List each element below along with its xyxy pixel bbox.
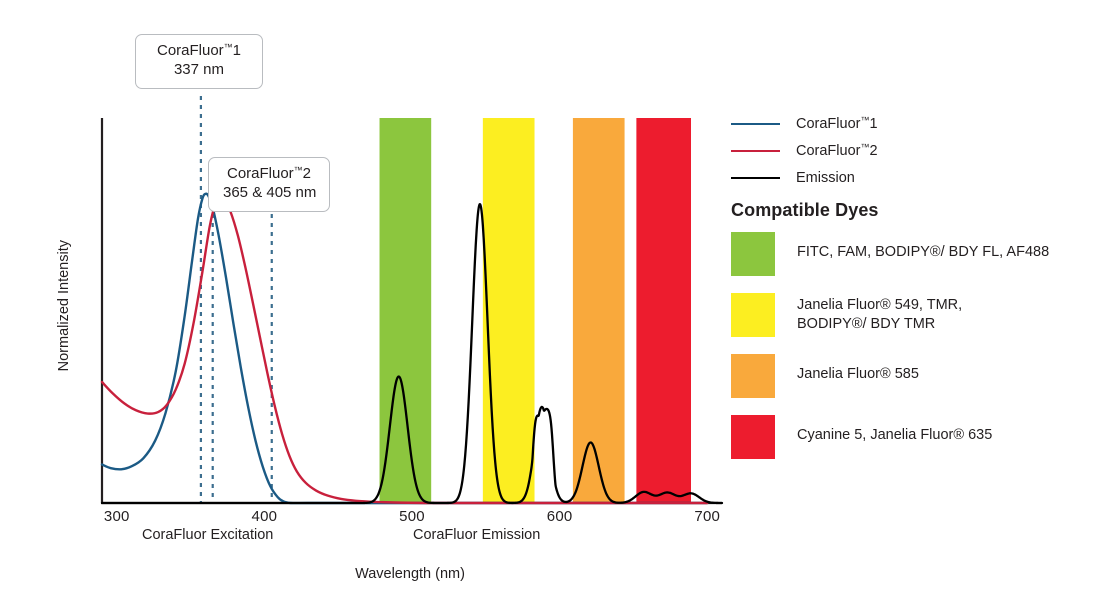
legend-item-0: CoraFluor™1 (731, 110, 1091, 137)
legend-label-text: CoraFluor (796, 143, 860, 159)
legend-item-label: Emission (796, 170, 855, 186)
legend-label-text: CoraFluor (796, 116, 860, 132)
callout-corafluor-1: CoraFluor™1 337 nm (135, 34, 263, 89)
x-tick-300: 300 (87, 508, 147, 525)
dye-label: Cyanine 5, Janelia Fluor® 635 (797, 415, 992, 445)
callout-cf2-line1: CoraFluor™2 (223, 165, 315, 184)
dye-item-0: FITC, FAM, BODIPY®/ BDY FL, AF488 (731, 232, 1101, 276)
callout-cf1-line1: CoraFluor™1 (150, 42, 248, 61)
dye-label: FITC, FAM, BODIPY®/ BDY FL, AF488 (797, 232, 1049, 262)
excitation-region-label: CoraFluor Excitation (142, 527, 273, 543)
dye-color-swatch (731, 354, 775, 398)
dye-color-swatch (731, 232, 775, 276)
legend-label-text: Emission (796, 170, 855, 186)
color-band-group (380, 118, 691, 503)
yellow-band (483, 118, 535, 503)
legend-line-swatch (731, 123, 780, 125)
legend-item-1: CoraFluor™2 (731, 137, 1091, 164)
legend-label-suffix: 1 (869, 116, 877, 132)
x-tick-700: 700 (677, 508, 737, 525)
y-axis-title: Normalized Intensity (56, 240, 72, 371)
legend-line-swatch (731, 177, 780, 179)
callout-cf2-line2: 365 & 405 nm (223, 184, 315, 203)
red-band (636, 118, 691, 503)
x-axis-title: Wavelength (nm) (0, 566, 820, 582)
dye-label: Janelia Fluor® 549, TMR, BODIPY®/ BDY TM… (797, 293, 962, 335)
x-tick-400: 400 (234, 508, 294, 525)
series-legend: CoraFluor™1CoraFluor™2Emission (731, 110, 1091, 191)
dye-item-1: Janelia Fluor® 549, TMR, BODIPY®/ BDY TM… (731, 293, 1101, 337)
callout-cf1-line2: 337 nm (150, 61, 248, 80)
legend-item-label: CoraFluor™2 (796, 142, 878, 159)
compatible-dyes-list: FITC, FAM, BODIPY®/ BDY FL, AF488Janelia… (731, 232, 1101, 476)
legend-label-suffix: 2 (869, 143, 877, 159)
dye-item-2: Janelia Fluor® 585 (731, 354, 1101, 398)
legend-item-2: Emission (731, 164, 1091, 191)
dye-color-swatch (731, 415, 775, 459)
x-tick-500: 500 (382, 508, 442, 525)
legend-item-label: CoraFluor™1 (796, 115, 878, 132)
orange-band (573, 118, 625, 503)
fluorescence-spectra-figure: 300400500600700 Normalized Intensity Wav… (0, 0, 1110, 612)
emission-region-label: CoraFluor Emission (413, 527, 540, 543)
x-tick-600: 600 (530, 508, 590, 525)
dye-color-swatch (731, 293, 775, 337)
callout-corafluor-2: CoraFluor™2 365 & 405 nm (208, 157, 330, 212)
dye-item-3: Cyanine 5, Janelia Fluor® 635 (731, 415, 1101, 459)
dye-label: Janelia Fluor® 585 (797, 354, 919, 384)
compatible-dyes-heading: Compatible Dyes (731, 200, 879, 221)
legend-line-swatch (731, 150, 780, 152)
